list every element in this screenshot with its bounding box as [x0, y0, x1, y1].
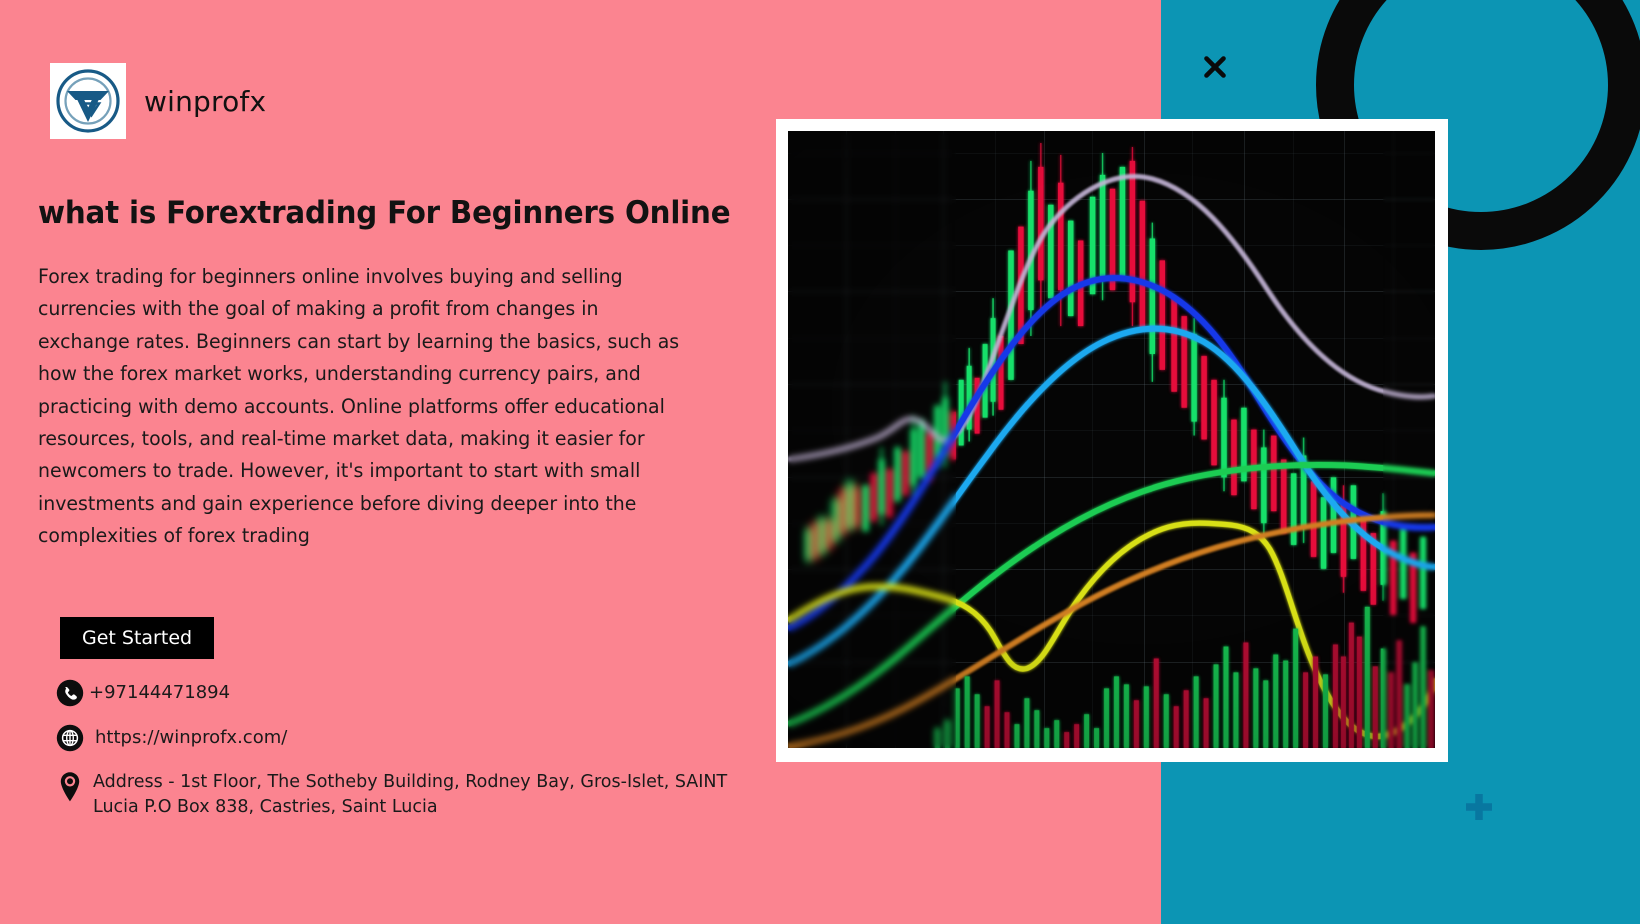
brand-header: winprofx: [50, 63, 266, 139]
map-pin-icon: [55, 770, 85, 800]
address-text: Address - 1st Floor, The Sotheby Buildin…: [93, 768, 755, 820]
winprofx-shield-logo: [50, 63, 126, 139]
contact-website[interactable]: https://winprofx.com/: [55, 723, 755, 753]
contact-address: Address - 1st Floor, The Sotheby Buildin…: [55, 768, 755, 820]
poster-canvas: winprofx what is Forextrading For Beginn…: [0, 0, 1640, 924]
volume-series: [937, 607, 1431, 748]
brand-name: winprofx: [144, 85, 266, 118]
chart-plot: [788, 131, 1435, 748]
plus-icon: [1462, 790, 1496, 824]
body-paragraph: Forex trading for beginners online invol…: [38, 261, 686, 553]
website-url: https://winprofx.com/: [95, 723, 287, 751]
forex-chart-image: [788, 131, 1435, 748]
globe-icon: [55, 723, 85, 753]
contact-list: +97144471894 https://winprofx.com/: [55, 678, 755, 835]
candlestick-series: [808, 143, 1423, 623]
get-started-button[interactable]: Get Started: [60, 617, 214, 659]
contact-phone[interactable]: +97144471894: [55, 678, 755, 708]
phone-icon: [55, 678, 85, 708]
chart-image-card: [776, 119, 1448, 762]
phone-number: +97144471894: [89, 678, 230, 706]
page-title: what is Forextrading For Beginners Onlin…: [38, 196, 745, 231]
close-x-icon: [1200, 52, 1230, 82]
ma-blue-line: [788, 278, 1435, 629]
